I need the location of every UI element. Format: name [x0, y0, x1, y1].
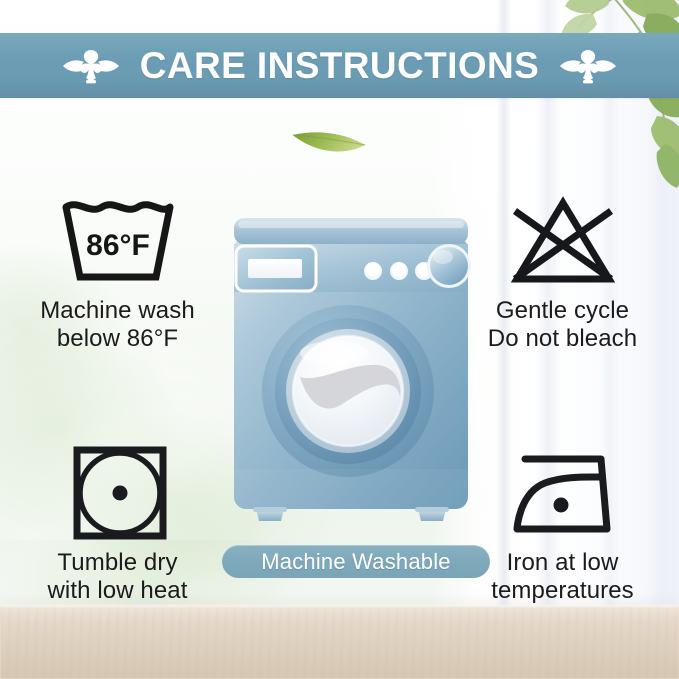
do-not-bleach-triangle-icon [455, 185, 670, 297]
care-item-iron-low-temp: Iron at low temperatures [455, 437, 670, 606]
wash-temperature-value: 86°F [86, 229, 150, 262]
care-label-line2: Do not bleach [455, 325, 670, 353]
wash-tub-icon: 86°F [10, 185, 225, 297]
care-label-line1: Machine wash [10, 297, 225, 325]
care-item-tumble-dry-low: Tumble dry with low heat [10, 437, 225, 606]
care-item-machine-wash: 86°F Machine wash below 86°F [10, 185, 225, 354]
header-banner: CARE INSTRUCTIONS [0, 33, 679, 98]
machine-washable-label: Machine Washable [261, 549, 450, 575]
care-instructions-card: CARE INSTRUCTIONS [0, 0, 679, 679]
washing-machine-illustration [228, 207, 474, 530]
fleur-de-lis-icon [60, 46, 122, 86]
care-item-gentle-cycle-no-bleach: Gentle cycle Do not bleach [455, 185, 670, 354]
iron-icon [455, 437, 670, 549]
fleur-de-lis-icon [557, 46, 619, 86]
page-title: CARE INSTRUCTIONS [140, 47, 539, 84]
tumble-dry-icon [10, 437, 225, 549]
care-label-line2: below 86°F [10, 325, 225, 353]
table-wood-grain [0, 607, 679, 679]
machine-washable-badge: Machine Washable [222, 545, 490, 578]
care-label-line1: Tumble dry [10, 549, 225, 577]
care-label-line2: with low heat [10, 577, 225, 605]
care-label-line2: temperatures [455, 577, 670, 605]
care-label-line1: Gentle cycle [455, 297, 670, 325]
